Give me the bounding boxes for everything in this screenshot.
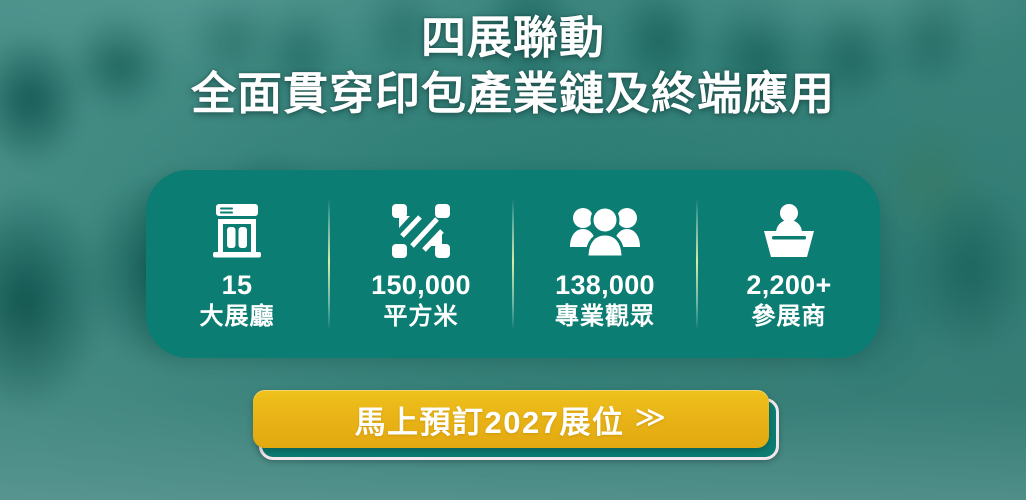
- book-booth-2027-button[interactable]: 馬上預訂2027展位 ≫: [253, 390, 769, 448]
- double-chevron-right-icon: ≫: [635, 403, 668, 433]
- visitors-group-icon: [569, 202, 641, 260]
- stats-panel: 15 大展廳 150,0: [146, 170, 880, 358]
- exhibitor-booth-icon: [758, 202, 820, 260]
- cta-container: 馬上預訂2027展位 ≫: [253, 390, 773, 452]
- stat-label: 專業觀眾: [555, 303, 655, 332]
- stat-label: 大展廳: [200, 303, 275, 332]
- stat-value: 2,200+: [746, 270, 831, 300]
- exhibition-hall-icon: [207, 202, 267, 260]
- headline-line-2: 全面貫穿印包產業鏈及終端應用: [0, 70, 1026, 119]
- stat-item-visitors: 138,000 專業觀眾: [514, 170, 696, 358]
- stat-label: 平方米: [384, 303, 459, 332]
- stat-item-halls: 15 大展廳: [146, 170, 328, 358]
- stat-value: 138,000: [555, 270, 655, 300]
- headline-line-1: 四展聯動: [0, 14, 1026, 63]
- page-title: 四展聯動 全面貫穿印包產業鏈及終端應用: [0, 14, 1026, 118]
- stat-value: 15: [222, 270, 253, 300]
- stat-value: 150,000: [371, 270, 471, 300]
- cta-label: 馬上預訂2027展位: [355, 397, 625, 442]
- stat-item-exhibitors: 2,200+ 參展商: [698, 170, 880, 358]
- stat-item-area: 150,000 平方米: [330, 170, 512, 358]
- area-square-meters-icon: [390, 202, 452, 260]
- promo-banner: 四展聯動 全面貫穿印包產業鏈及終端應用 15 大展廳: [0, 0, 1026, 500]
- stat-label: 參展商: [752, 303, 827, 332]
